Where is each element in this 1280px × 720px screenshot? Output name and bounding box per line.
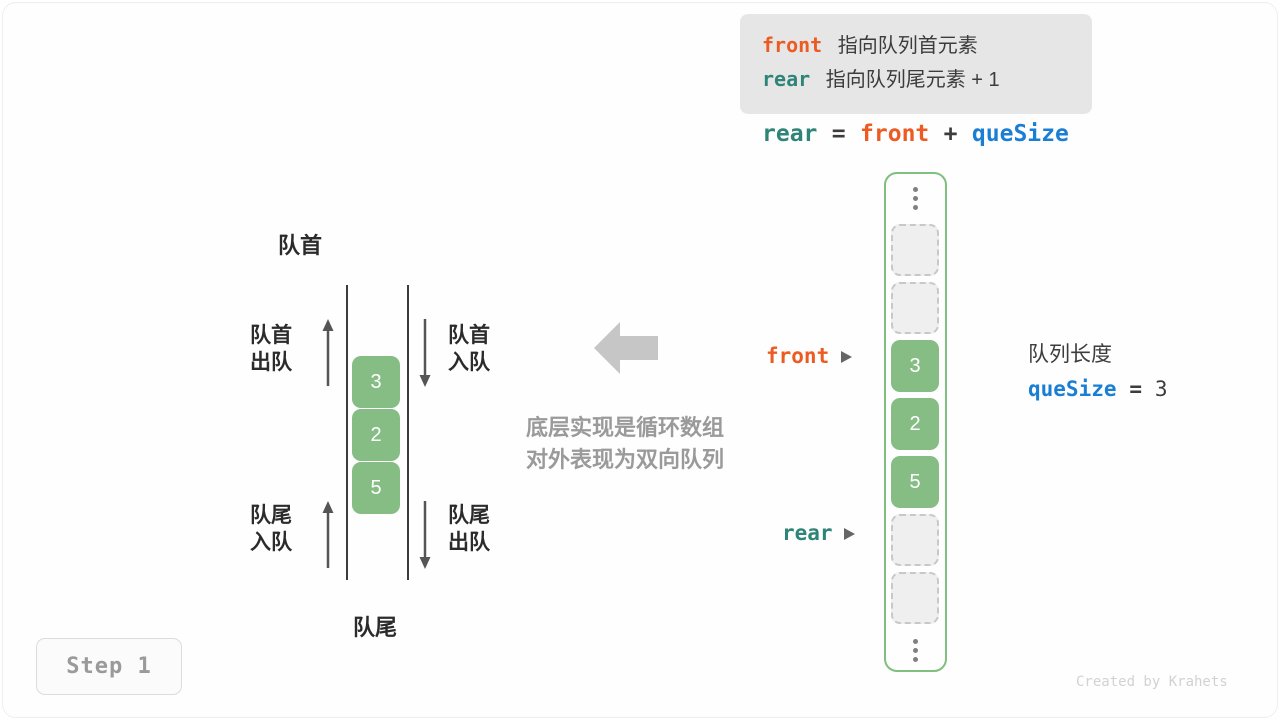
arrow-up-front-dequeue <box>318 318 338 388</box>
note-line-front: front 指向队列首元素 <box>762 28 1092 62</box>
pointer-rear-label: rear <box>782 521 833 545</box>
implementation-caption: 底层实现是循环数组 对外表现为双向队列 <box>504 412 746 476</box>
pointer-rear: rear <box>782 521 855 546</box>
arrow-down-front-enqueue <box>415 318 435 388</box>
note-text-rear: 指向队列尾元素 + 1 <box>826 69 1000 91</box>
queue-size-title: 队列长度 <box>1028 338 1168 372</box>
pointer-front-label: front <box>766 344 829 368</box>
deque-wall-left <box>346 285 348 580</box>
deque-cells: 3 2 5 <box>352 356 400 515</box>
formula-equals: = <box>832 121 846 147</box>
circular-array-cells: 3 2 5 <box>891 178 939 676</box>
deque-tail-label: 队尾 <box>300 610 450 642</box>
label-back-dequeue-line2: 出队 <box>448 529 490 556</box>
queue-size-expression: queSize = 3 <box>1028 372 1168 407</box>
formula-rear: rear <box>762 121 817 147</box>
label-front-enqueue-line2: 入队 <box>448 349 490 376</box>
label-back-enqueue-line2: 入队 <box>250 529 292 556</box>
pointer-front-arrow-icon <box>841 351 852 363</box>
step-badge: Step 1 <box>36 638 182 695</box>
pointer-front: front <box>766 344 852 369</box>
formula-front: front <box>860 121 929 147</box>
formula-quesize: queSize <box>972 121 1069 147</box>
label-front-dequeue-line1: 队首 <box>250 322 292 349</box>
pointer-rear-arrow-icon <box>844 528 855 540</box>
formula-plus: + <box>944 121 958 147</box>
queue-size-value: 3 <box>1155 377 1168 401</box>
label-front-enqueue-line1: 队首 <box>448 322 490 349</box>
note-term-front: front <box>762 33 822 57</box>
label-back-enqueue: 队尾 入队 <box>250 502 292 556</box>
queue-size-equals: = <box>1129 377 1142 401</box>
deque-cell: 2 <box>352 409 400 461</box>
array-cell-value: 3 <box>891 340 939 392</box>
note-term-rear: rear <box>762 67 810 91</box>
array-cell-empty <box>891 224 939 276</box>
note-line-rear: rear 指向队列尾元素 + 1 <box>762 62 1092 96</box>
deque-cell: 3 <box>352 356 400 408</box>
arrow-down-back-dequeue <box>415 500 435 570</box>
pointer-definition-note: front 指向队列首元素 rear 指向队列尾元素 + 1 <box>740 14 1092 114</box>
label-front-enqueue: 队首 入队 <box>448 322 490 376</box>
array-cell-value: 2 <box>891 398 939 450</box>
label-front-dequeue: 队首 出队 <box>250 322 292 376</box>
credit-text: Created by Krahets <box>1076 674 1228 690</box>
implementation-caption-line1: 底层实现是循环数组 <box>504 412 746 444</box>
note-text-front: 指向队列首元素 <box>838 35 978 57</box>
array-cell-empty <box>891 282 939 334</box>
array-ellipsis-top-icon <box>891 178 939 218</box>
diagram-canvas: front 指向队列首元素 rear 指向队列尾元素 + 1 rear = fr… <box>0 0 1280 720</box>
label-back-enqueue-line1: 队尾 <box>250 502 292 529</box>
array-cell-empty <box>891 572 939 624</box>
array-ellipsis-bottom-icon <box>891 630 939 670</box>
deque-head-label: 队首 <box>225 228 375 260</box>
queue-size-var: queSize <box>1028 377 1117 401</box>
deque-cell: 5 <box>352 462 400 514</box>
label-back-dequeue-line1: 队尾 <box>448 502 490 529</box>
label-back-dequeue: 队尾 出队 <box>448 502 490 556</box>
rear-formula: rear = front + queSize <box>762 118 1069 149</box>
queue-size-note: 队列长度 queSize = 3 <box>1028 338 1168 407</box>
mapping-arrow-left-icon <box>594 320 658 376</box>
array-cell-value: 5 <box>891 456 939 508</box>
deque-wall-right <box>407 285 409 580</box>
implementation-caption-line2: 对外表现为双向队列 <box>504 444 746 476</box>
array-cell-empty <box>891 514 939 566</box>
label-front-dequeue-line2: 出队 <box>250 349 292 376</box>
arrow-up-back-enqueue <box>318 500 338 570</box>
